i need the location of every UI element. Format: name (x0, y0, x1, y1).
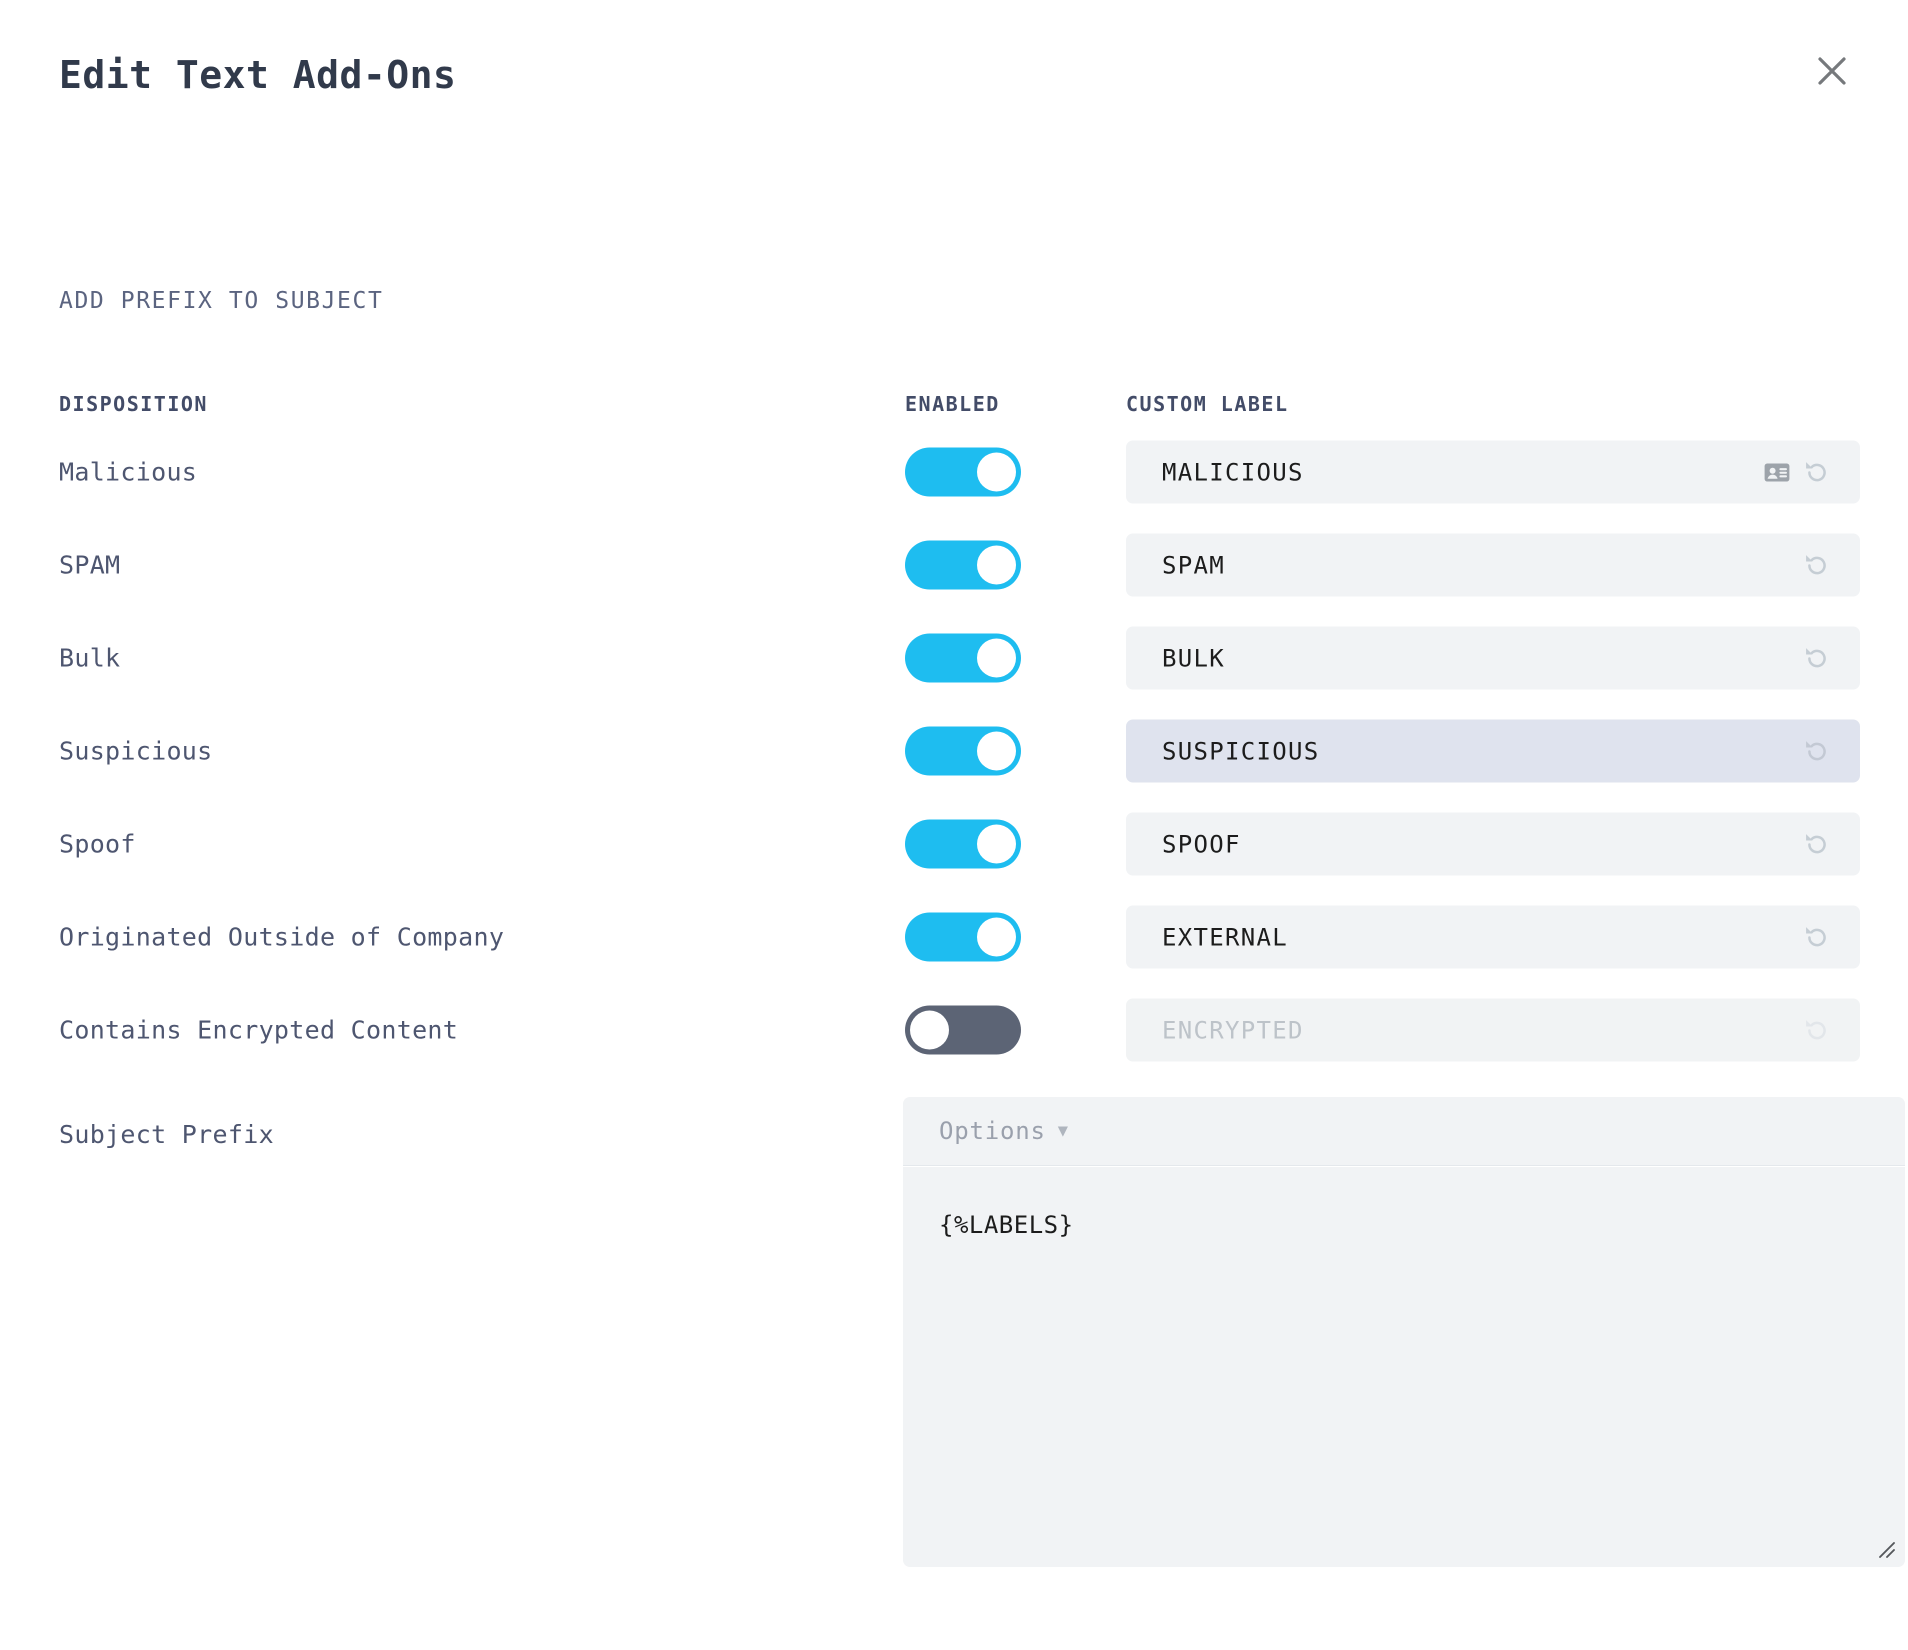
close-icon (1815, 54, 1849, 88)
contact-card-icon[interactable] (1763, 458, 1791, 486)
field-icon-group (1800, 920, 1834, 954)
custom-label-input[interactable]: SPOOF (1126, 813, 1860, 876)
page-title: Edit Text Add-Ons (59, 53, 456, 97)
disposition-label: Originated Outside of Company (59, 923, 504, 952)
toggle-knob (977, 825, 1016, 864)
field-icon-group (1800, 641, 1834, 675)
enabled-toggle[interactable] (905, 541, 1021, 590)
custom-label-input[interactable]: EXTERNAL (1126, 906, 1860, 969)
custom-label-value: MALICIOUS (1162, 458, 1763, 486)
disposition-label: Suspicious (59, 737, 213, 766)
reset-icon (1800, 1013, 1834, 1047)
disposition-label: Contains Encrypted Content (59, 1016, 458, 1045)
column-header-custom-label: CUSTOM LABEL (1126, 392, 1289, 416)
custom-label-input[interactable]: MALICIOUS (1126, 441, 1860, 504)
table-row: MaliciousMALICIOUS (0, 440, 1908, 504)
enabled-toggle[interactable] (905, 634, 1021, 683)
section-heading: ADD PREFIX TO SUBJECT (59, 288, 383, 314)
custom-label-input[interactable]: BULK (1126, 627, 1860, 690)
enabled-toggle[interactable] (905, 913, 1021, 962)
reset-icon[interactable] (1800, 827, 1834, 861)
field-icon-group (1800, 734, 1834, 768)
custom-label-value: SPAM (1162, 551, 1800, 579)
close-button[interactable] (1809, 48, 1855, 94)
toggle-knob (977, 639, 1016, 678)
table-row: SuspiciousSUSPICIOUS (0, 719, 1908, 783)
toggle-knob (910, 1011, 949, 1050)
field-icon-group (1800, 1013, 1834, 1047)
table-row: BulkBULK (0, 626, 1908, 690)
table-row: SPAMSPAM (0, 533, 1908, 597)
toggle-knob (977, 546, 1016, 585)
reset-icon[interactable] (1800, 548, 1834, 582)
disposition-label: Spoof (59, 830, 136, 859)
field-icon-group (1800, 548, 1834, 582)
custom-label-input[interactable]: SPAM (1126, 534, 1860, 597)
table-row: Contains Encrypted ContentENCRYPTED (0, 998, 1908, 1062)
subject-prefix-label: Subject Prefix (59, 1120, 274, 1149)
enabled-toggle[interactable] (905, 727, 1021, 776)
subject-prefix-textarea[interactable]: {%LABELS} (903, 1167, 1905, 1567)
subject-prefix-value: {%LABELS} (939, 1211, 1074, 1239)
reset-icon[interactable] (1800, 920, 1834, 954)
custom-label-value: ENCRYPTED (1162, 1016, 1800, 1044)
table-row: SpoofSPOOF (0, 812, 1908, 876)
reset-icon[interactable] (1800, 641, 1834, 675)
custom-label-value: SUSPICIOUS (1162, 737, 1800, 765)
options-dropdown-label: Options (939, 1117, 1046, 1145)
custom-label-value: EXTERNAL (1162, 923, 1800, 951)
resize-grip-icon[interactable] (1874, 1537, 1896, 1559)
toggle-knob (977, 453, 1016, 492)
enabled-toggle[interactable] (905, 1006, 1021, 1055)
custom-label-value: SPOOF (1162, 830, 1800, 858)
toggle-knob (977, 732, 1016, 771)
table-row: Originated Outside of CompanyEXTERNAL (0, 905, 1908, 969)
field-icon-group (1763, 455, 1834, 489)
column-header-disposition: DISPOSITION (59, 392, 208, 416)
enabled-toggle[interactable] (905, 448, 1021, 497)
toggle-knob (977, 918, 1016, 957)
enabled-toggle[interactable] (905, 820, 1021, 869)
chevron-down-icon: ▼ (1058, 1123, 1068, 1140)
reset-icon[interactable] (1800, 734, 1834, 768)
disposition-label: SPAM (59, 551, 120, 580)
modal-header: Edit Text Add-Ons (0, 0, 1908, 150)
custom-label-input[interactable]: SUSPICIOUS (1126, 720, 1860, 783)
options-dropdown[interactable]: Options ▼ (903, 1097, 1905, 1166)
custom-label-input: ENCRYPTED (1126, 999, 1860, 1062)
custom-label-value: BULK (1162, 644, 1800, 672)
disposition-label: Bulk (59, 644, 120, 673)
reset-icon[interactable] (1800, 455, 1834, 489)
disposition-label: Malicious (59, 458, 197, 487)
field-icon-group (1800, 827, 1834, 861)
column-header-enabled: ENABLED (905, 392, 1000, 416)
